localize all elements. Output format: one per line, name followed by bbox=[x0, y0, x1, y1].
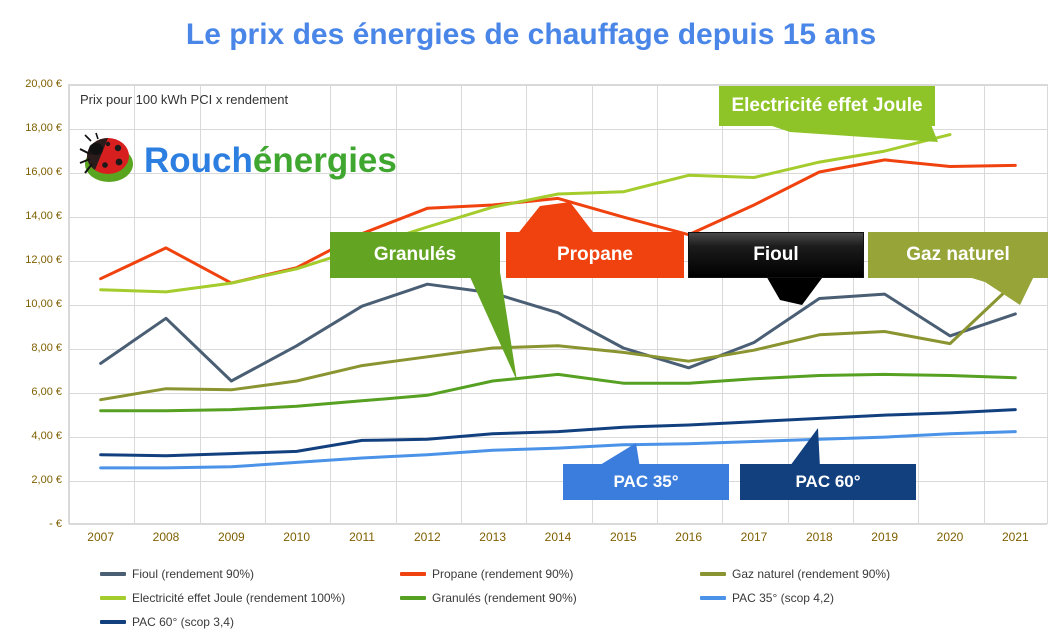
legend-label: Gaz naturel (rendement 90%) bbox=[732, 567, 890, 581]
x-axis-tick: 2007 bbox=[71, 530, 131, 544]
callout-gaz-naturel[interactable]: Gaz naturel bbox=[868, 232, 1048, 278]
x-axis-tick: 2015 bbox=[593, 530, 653, 544]
legend-label: Fioul (rendement 90%) bbox=[132, 567, 254, 581]
x-axis-tick: 2019 bbox=[855, 530, 915, 544]
legend-label: Propane (rendement 90%) bbox=[432, 567, 573, 581]
y-axis-tick: - € bbox=[2, 518, 62, 530]
x-axis-tick: 2011 bbox=[332, 530, 392, 544]
legend-item[interactable]: Electricité effet Joule (rendement 100%) bbox=[100, 586, 400, 610]
legend-swatch bbox=[700, 596, 726, 600]
x-axis-tick: 2012 bbox=[397, 530, 457, 544]
y-axis: - €2,00 €4,00 €6,00 €8,00 €10,00 €12,00 … bbox=[0, 84, 62, 524]
legend-swatch bbox=[100, 596, 126, 600]
x-axis: 2007200820092010201120122013201420152016… bbox=[68, 530, 1048, 552]
legend-swatch bbox=[100, 572, 126, 576]
callout-pac35[interactable]: PAC 35° bbox=[563, 464, 729, 500]
legend-label: Granulés (rendement 90%) bbox=[432, 591, 577, 605]
y-axis-tick: 12,00 € bbox=[2, 254, 62, 266]
series-line bbox=[101, 282, 1016, 400]
chart-series-layer bbox=[68, 84, 1048, 524]
y-axis-tick: 6,00 € bbox=[2, 386, 62, 398]
page-title: Le prix des énergies de chauffage depuis… bbox=[0, 18, 1062, 52]
x-axis-tick: 2010 bbox=[267, 530, 327, 544]
legend-label: Electricité effet Joule (rendement 100%) bbox=[132, 591, 345, 605]
legend-item[interactable]: PAC 35° (scop 4,2) bbox=[700, 586, 1000, 610]
x-axis-tick: 2018 bbox=[789, 530, 849, 544]
legend-label: PAC 35° (scop 4,2) bbox=[732, 591, 834, 605]
callout-propane[interactable]: Propane bbox=[506, 232, 684, 278]
y-axis-tick: 8,00 € bbox=[2, 342, 62, 354]
legend-swatch bbox=[400, 572, 426, 576]
x-axis-tick: 2020 bbox=[920, 530, 980, 544]
x-axis-tick: 2009 bbox=[201, 530, 261, 544]
y-axis-tick: 18,00 € bbox=[2, 122, 62, 134]
legend-label: PAC 60° (scop 3,4) bbox=[132, 615, 234, 629]
series-line bbox=[101, 432, 1016, 468]
y-axis-tick: 2,00 € bbox=[2, 474, 62, 486]
callout-pac60[interactable]: PAC 60° bbox=[740, 464, 916, 500]
y-axis-tick: 10,00 € bbox=[2, 298, 62, 310]
y-axis-tick: 16,00 € bbox=[2, 166, 62, 178]
y-axis-tick: 4,00 € bbox=[2, 430, 62, 442]
series-line bbox=[101, 374, 1016, 410]
legend-item[interactable]: Propane (rendement 90%) bbox=[400, 562, 700, 586]
callout-fioul[interactable]: Fioul bbox=[688, 232, 864, 278]
callout-electricite[interactable]: Electricité effet Joule bbox=[719, 86, 935, 126]
x-axis-tick: 2013 bbox=[463, 530, 523, 544]
x-axis-tick: 2021 bbox=[985, 530, 1045, 544]
legend-swatch bbox=[400, 596, 426, 600]
callout-granules[interactable]: Granulés bbox=[330, 232, 500, 278]
legend-swatch bbox=[700, 572, 726, 576]
chart-legend: Fioul (rendement 90%)Propane (rendement … bbox=[100, 562, 1000, 634]
legend-item[interactable]: PAC 60° (scop 3,4) bbox=[100, 610, 400, 634]
x-axis-tick: 2014 bbox=[528, 530, 588, 544]
legend-item[interactable]: Gaz naturel (rendement 90%) bbox=[700, 562, 1000, 586]
x-axis-tick: 2008 bbox=[136, 530, 196, 544]
legend-swatch bbox=[100, 620, 126, 624]
y-axis-tick: 20,00 € bbox=[2, 78, 62, 90]
x-axis-tick: 2016 bbox=[659, 530, 719, 544]
y-axis-tick: 14,00 € bbox=[2, 210, 62, 222]
legend-item[interactable]: Granulés (rendement 90%) bbox=[400, 586, 700, 610]
x-axis-tick: 2017 bbox=[724, 530, 784, 544]
legend-item[interactable]: Fioul (rendement 90%) bbox=[100, 562, 400, 586]
